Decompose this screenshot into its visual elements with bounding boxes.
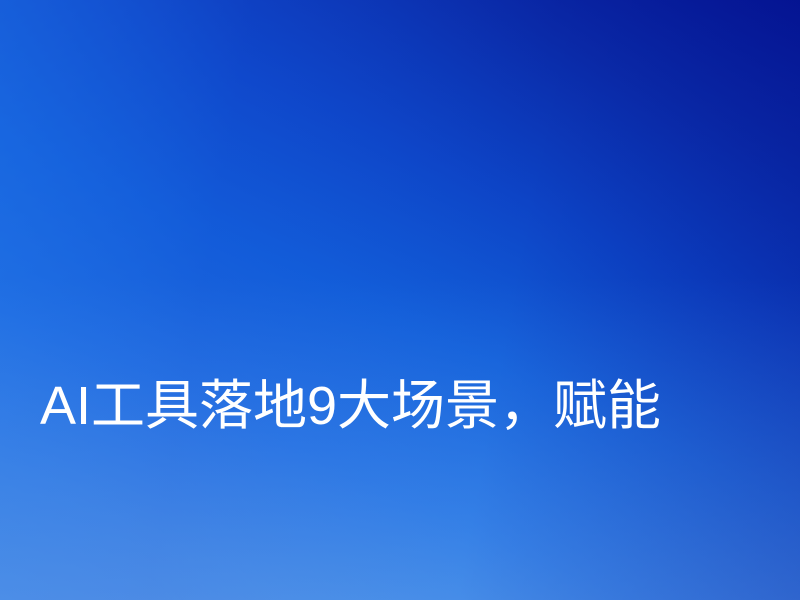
headline-line-1: AI工具落地9大场景，赋能 bbox=[40, 366, 770, 446]
headline-text: AI工具落地9大场景，赋能 企业10倍速变化 bbox=[40, 206, 770, 600]
title-banner: AI工具落地9大场景，赋能 企业10倍速变化 bbox=[0, 0, 800, 600]
